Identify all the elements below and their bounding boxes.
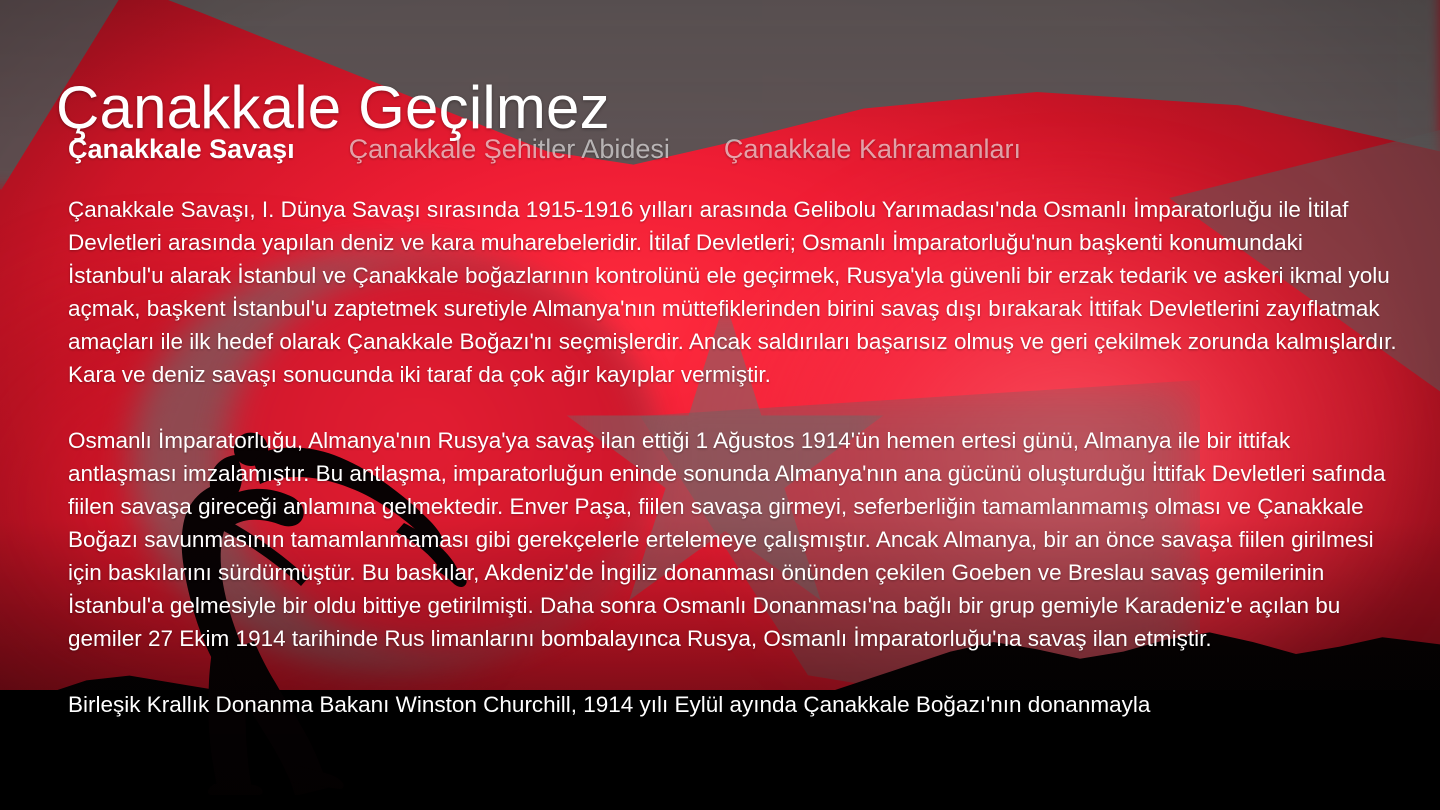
tab-canakkale-kahramanlari[interactable]: Çanakkale Kahramanları <box>724 133 1021 165</box>
tab-bar: Çanakkale Savaşı Çanakkale Şehitler Abid… <box>68 133 1021 165</box>
article-paragraph-1: Çanakkale Savaşı, I. Dünya Savaşı sırası… <box>68 193 1398 391</box>
tab-canakkale-savasi[interactable]: Çanakkale Savaşı <box>68 133 295 165</box>
article-paragraph-2: Osmanlı İmparatorluğu, Almanya'nın Rusya… <box>68 424 1398 655</box>
tab-canakkale-sehitler-abidesi[interactable]: Çanakkale Şehitler Abidesi <box>349 133 670 165</box>
app-window: Çanakkale Geçilmez Çanakkale Savaşı Çana… <box>0 0 1440 810</box>
article-paragraph-3: Birleşik Krallık Donanma Bakanı Winston … <box>68 688 1398 721</box>
page-title: Çanakkale Geçilmez <box>56 76 610 139</box>
article-body: Çanakkale Savaşı, I. Dünya Savaşı sırası… <box>68 193 1398 721</box>
page-content: Çanakkale Geçilmez Çanakkale Savaşı Çana… <box>0 0 1440 810</box>
